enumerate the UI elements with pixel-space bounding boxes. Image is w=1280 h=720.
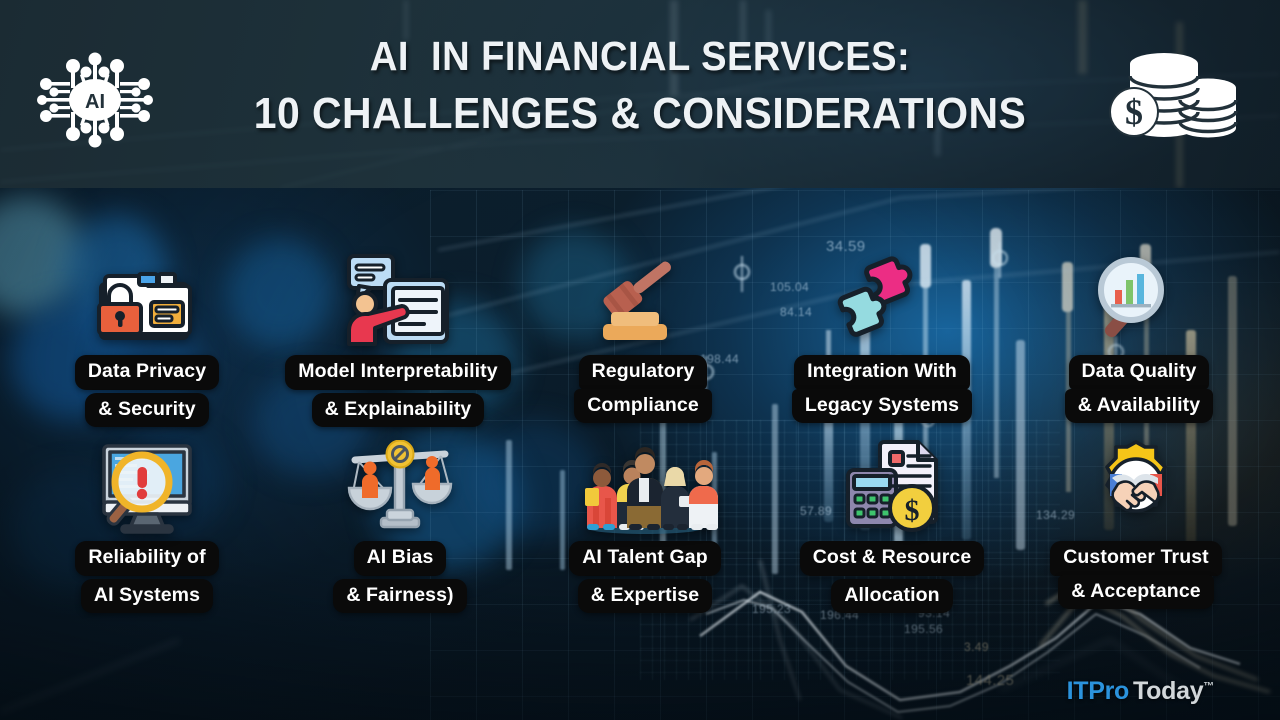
challenge-label-line: Data Privacy — [75, 355, 219, 390]
challenge-label-line: & Fairness) — [333, 579, 466, 614]
folder-lock-icon — [89, 252, 205, 348]
business-people-icon — [571, 438, 719, 534]
challenge-label-group: Data Privacy & Security — [75, 355, 219, 427]
challenge-label-line: Data Quality — [1069, 355, 1210, 390]
challenge-item-talent-gap[interactable]: AI Talent Gap & Expertise — [560, 438, 730, 613]
challenge-item-customer-trust[interactable]: Customer Trust & Acceptance — [1040, 438, 1232, 609]
challenge-item-ai-bias[interactable]: AI Bias & Fairness) — [312, 438, 488, 613]
challenge-label-line: Reliability of — [75, 541, 218, 576]
challenge-item-cost-allocation[interactable]: $ Cost & Resource Allocation — [796, 438, 988, 613]
challenge-label-line: Cost & Resource — [800, 541, 985, 576]
challenge-label-line: & Availability — [1065, 389, 1213, 424]
itprotoday-logo[interactable]: ITProToday™ — [1067, 677, 1214, 706]
header-banner: AI AI IN FINANCIAL SERVICES: 10 CHALLENG… — [0, 0, 1280, 188]
coin-stack-icon: $ — [1108, 48, 1238, 147]
challenge-label-line: & Acceptance — [1058, 575, 1213, 610]
challenge-label-line: Integration With — [794, 355, 970, 390]
page-title-line-2: 10 CHALLENGES & CONSIDERATIONS — [203, 89, 1077, 138]
challenge-label-line: AI Bias — [354, 541, 447, 576]
challenge-label-group: Reliability of AI Systems — [75, 541, 218, 613]
logo-trademark-symbol: ™ — [1203, 681, 1214, 693]
gavel-icon — [591, 252, 695, 348]
magnifier-barchart-icon — [1089, 252, 1189, 348]
handshake-gear-icon — [1086, 438, 1186, 534]
challenge-label-group: AI Talent Gap & Expertise — [569, 541, 721, 613]
person-presentation-icon — [343, 252, 453, 348]
challenge-label-group: Model Interpretability & Explainability — [285, 355, 510, 427]
challenge-label-line: & Explainability — [312, 393, 485, 428]
monitor-alert-magnifier-icon — [92, 438, 202, 534]
challenge-item-model-interpretability[interactable]: Model Interpretability & Explainability — [268, 252, 528, 427]
page-title: AI IN FINANCIAL SERVICES: 10 CHALLENGES … — [203, 34, 1077, 138]
challenge-label-line: Customer Trust — [1050, 541, 1222, 576]
logo-today-text: Today — [1133, 677, 1203, 705]
challenge-item-regulatory-compliance[interactable]: Regulatory Compliance — [564, 252, 722, 423]
challenge-item-data-quality[interactable]: Data Quality & Availability — [1050, 252, 1228, 423]
infographic-canvas: 34.59 105.04 84.14 195.23 196.44 93.14 1… — [0, 0, 1280, 720]
ai-chip-icon-label: AI — [85, 91, 105, 113]
calculator-invoice-coin-icon: $ — [838, 438, 946, 534]
challenge-label-line: AI Talent Gap — [569, 541, 721, 576]
challenge-label-group: Data Quality & Availability — [1065, 355, 1213, 423]
challenge-label-group: AI Bias & Fairness) — [333, 541, 466, 613]
challenge-label-line: AI Systems — [81, 579, 213, 614]
logo-itpro-text: ITPro — [1067, 677, 1129, 705]
puzzle-pieces-icon — [824, 252, 940, 348]
scales-balance-icon — [345, 438, 455, 534]
challenge-item-data-privacy[interactable]: Data Privacy & Security — [36, 252, 258, 427]
challenges-grid: Data Privacy & Security — [0, 188, 1280, 720]
ai-chip-icon: AI — [36, 52, 154, 153]
challenge-label-group: Regulatory Compliance — [574, 355, 712, 423]
challenge-label-line: Regulatory — [579, 355, 708, 390]
challenge-label-line: & Security — [85, 393, 208, 428]
challenge-label-group: Customer Trust & Acceptance — [1050, 541, 1222, 609]
coin-dollar-symbol: $ — [1125, 92, 1143, 132]
page-title-line-1: AI IN FINANCIAL SERVICES: — [203, 34, 1077, 80]
challenge-item-reliability[interactable]: Reliability of AI Systems — [36, 438, 258, 613]
challenge-label-line: Model Interpretability — [285, 355, 510, 390]
challenge-label-group: Integration With Legacy Systems — [792, 355, 972, 423]
svg-text:$: $ — [905, 494, 920, 527]
challenge-label-line: & Expertise — [578, 579, 712, 614]
challenge-label-line: Compliance — [574, 389, 712, 424]
challenge-item-legacy-integration[interactable]: Integration With Legacy Systems — [792, 252, 972, 423]
challenge-label-group: Cost & Resource Allocation — [800, 541, 985, 613]
challenge-label-line: Legacy Systems — [792, 389, 972, 424]
challenge-label-line: Allocation — [831, 579, 952, 614]
